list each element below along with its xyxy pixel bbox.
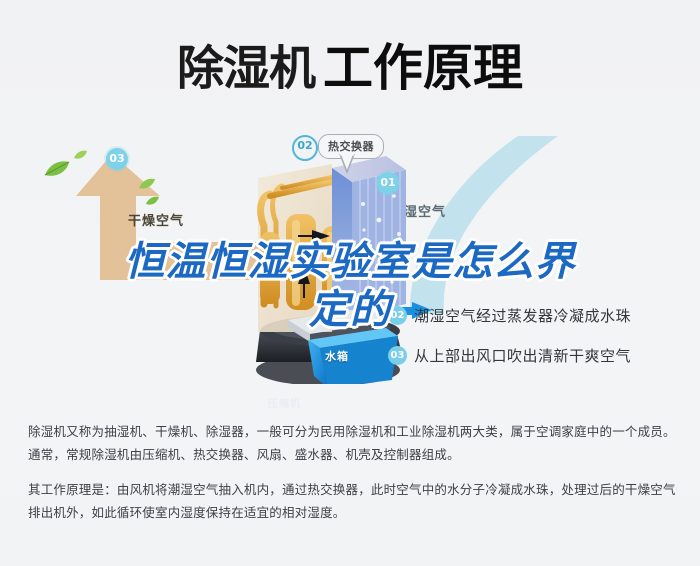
leaf-icon xyxy=(44,160,70,178)
leaf-icon xyxy=(74,150,87,160)
page-title-part-1: 除湿机 xyxy=(177,42,315,97)
legend-badge-03: 03 xyxy=(388,346,407,365)
water-tank-label: 水箱 xyxy=(325,348,349,364)
legend-item-03: 03 从上部出风口吹出清新干爽空气 xyxy=(388,335,698,375)
badge-03: 03 xyxy=(106,148,128,170)
legend-badge-02: 02 xyxy=(388,306,407,325)
legend-text-02: 潮湿空气经过蒸发器冷凝成水珠 xyxy=(414,305,631,326)
badge-02: 02 xyxy=(292,135,318,161)
body-copy: 除湿机又称为抽湿机、干燥机、除湿器，一般可分为民用除湿机和工业除湿机两大类，属于… xyxy=(28,420,676,536)
poster-page: 除湿机工作原理 干燥空气 潮湿空气 xyxy=(0,0,700,566)
page-title: 除湿机工作原理 xyxy=(0,28,700,100)
callout-pointer-icon xyxy=(338,154,356,174)
legend-item-02: 02 潮湿空气经过蒸发器冷凝成水珠 xyxy=(388,295,698,335)
compressor-label: 压缩机 xyxy=(268,395,301,410)
body-paragraph-2: 其工作原理是：由风机将潮湿空气抽入机内，通过热交换器，此时空气中的水分子冷凝成水… xyxy=(28,478,676,524)
leaf-icon xyxy=(146,196,159,206)
dry-air-label: 干燥空气 xyxy=(128,210,184,229)
body-paragraph-1: 除湿机又称为抽湿机、干燥机、除湿器，一般可分为民用除湿机和工业除湿机两大类，属于… xyxy=(28,420,676,466)
legend-list: 01 风机将潮湿空气抽入机内 02 潮湿空气经过蒸发器冷凝成水珠 03 从上部出… xyxy=(388,255,698,375)
page-title-part-2: 工作原理 xyxy=(323,38,523,97)
legend-text-03: 从上部出风口吹出清新干爽空气 xyxy=(414,345,631,366)
leaf-icon xyxy=(139,178,155,190)
badge-01: 01 xyxy=(377,172,399,194)
